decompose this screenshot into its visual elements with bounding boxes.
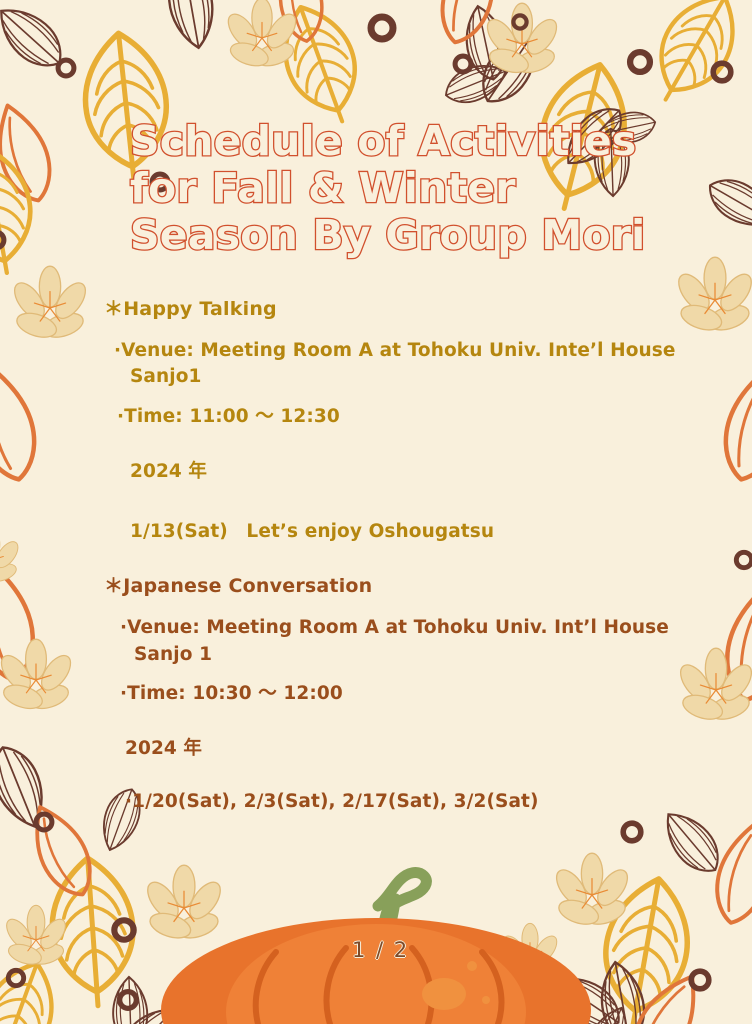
title-line-3: Season By Group Mori	[130, 212, 690, 259]
section-2-year: 2024 年	[125, 734, 202, 760]
section-1-year: 2024 年	[130, 457, 207, 483]
section-2-dates: ·1/20(Sat), 2/3(Sat), 2/17(Sat), 3/2(Sat…	[125, 791, 539, 812]
title-line-2: for Fall & Winter	[130, 165, 690, 212]
poster-title: Schedule of Activities for Fall & Winter…	[130, 118, 690, 259]
page-indicator: 1 / 2	[352, 938, 409, 962]
section-heading-happy-talking: ＊Happy Talking	[104, 294, 277, 321]
section-2-venue-line-2: Sanjo 1	[134, 644, 212, 665]
section-1-time: ·Time: 11:00 〜 12:30	[117, 402, 340, 428]
section-heading-japanese-conversation: ＊Japanese Conversation	[104, 571, 372, 598]
section-1-venue-line-2: Sanjo1	[130, 366, 202, 387]
section-1-dates: 1/13(Sat) Let’s enjoy Oshougatsu	[130, 517, 494, 543]
title-line-1: Schedule of Activities	[130, 118, 690, 165]
section-2-time: ·Time: 10:30 〜 12:00	[120, 679, 343, 705]
section-1-venue-line-1: ·Venue: Meeting Room A at Tohoku Univ. I…	[114, 340, 676, 361]
section-2-venue-line-1: ·Venue: Meeting Room A at Tohoku Univ. I…	[120, 617, 669, 638]
poster-page: Schedule of Activities for Fall & Winter…	[0, 0, 752, 1024]
